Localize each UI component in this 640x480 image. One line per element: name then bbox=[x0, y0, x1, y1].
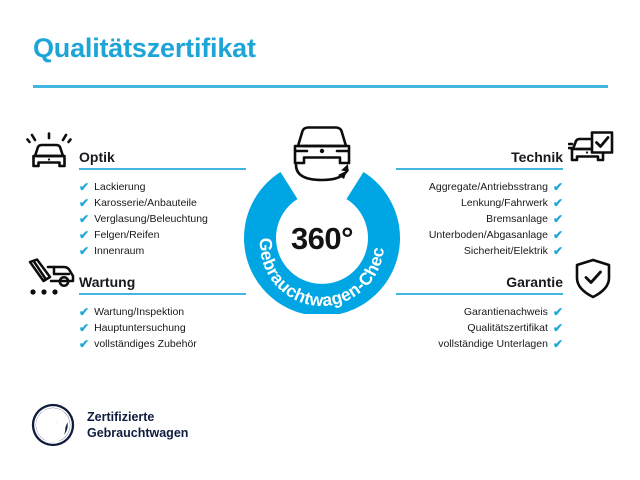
list-item-label: Lackierung bbox=[94, 179, 145, 195]
section-wartung-title: Wartung bbox=[79, 274, 135, 290]
section-technik-header: Technik bbox=[396, 140, 563, 170]
list-item-label: Felgen/Reifen bbox=[94, 227, 159, 243]
list-item: ✔Hauptuntersuchung bbox=[79, 320, 246, 336]
list-item: ✔Wartung/Inspektion bbox=[79, 304, 246, 320]
list-item: Sicherheit/Elektrik✔ bbox=[396, 243, 563, 259]
list-item-label: Bremsanlage bbox=[486, 211, 548, 227]
car-shine-icon bbox=[26, 132, 72, 179]
section-garantie: Garantie Garantienachweis✔ Qualitätszert… bbox=[396, 265, 563, 352]
footer-brand-text: Zertifizierte Gebrauchtwagen bbox=[87, 409, 188, 441]
footer-line-1: Zertifizierte bbox=[87, 409, 188, 425]
list-item-label: Karosserie/Anbauteile bbox=[94, 195, 197, 211]
section-technik-title: Technik bbox=[511, 149, 563, 165]
check-icon: ✔ bbox=[79, 243, 89, 259]
list-item-label: Verglasung/Beleuchtung bbox=[94, 211, 208, 227]
list-item-label: Wartung/Inspektion bbox=[94, 304, 184, 320]
check-icon: ✔ bbox=[553, 179, 563, 195]
section-technik-divider bbox=[396, 168, 563, 170]
check-icon: ✔ bbox=[553, 320, 563, 336]
list-item: ✔Lackierung bbox=[79, 179, 246, 195]
list-item: Lenkung/Fahrwerk✔ bbox=[396, 195, 563, 211]
list-item-label: vollständiges Zubehör bbox=[94, 336, 197, 352]
section-garantie-header: Garantie bbox=[396, 265, 563, 295]
check-icon: ✔ bbox=[79, 195, 89, 211]
list-item-label: Aggregate/Antriebsstrang bbox=[429, 179, 548, 195]
section-wartung-header: Wartung bbox=[79, 265, 246, 295]
list-item-label: Lenkung/Fahrwerk bbox=[461, 195, 548, 211]
check-icon: ✔ bbox=[553, 227, 563, 243]
footer-line-2: Gebrauchtwagen bbox=[87, 425, 188, 441]
section-optik-divider bbox=[79, 168, 246, 170]
check-icon: ✔ bbox=[79, 211, 89, 227]
list-item: Unterboden/Abgasanlage✔ bbox=[396, 227, 563, 243]
section-technik: Technik Aggregate/Antriebsstrang✔ Lenkun… bbox=[396, 140, 563, 259]
list-item: vollständige Unterlagen✔ bbox=[396, 336, 563, 352]
section-optik-list: ✔Lackierung ✔Karosserie/Anbauteile ✔Verg… bbox=[79, 179, 246, 259]
check-icon: ✔ bbox=[553, 304, 563, 320]
section-wartung-list: ✔Wartung/Inspektion ✔Hauptuntersuchung ✔… bbox=[79, 304, 246, 352]
page-title: Qualitätszertifikat bbox=[33, 33, 256, 64]
check-icon: ✔ bbox=[79, 227, 89, 243]
list-item: ✔vollständiges Zubehör bbox=[79, 336, 246, 352]
shield-check-icon bbox=[574, 258, 612, 305]
check-icon: ✔ bbox=[79, 320, 89, 336]
section-technik-list: Aggregate/Antriebsstrang✔ Lenkung/Fahrwe… bbox=[396, 179, 563, 259]
certificate-page: Qualitätszertifikat bbox=[0, 0, 640, 480]
list-item: Aggregate/Antriebsstrang✔ bbox=[396, 179, 563, 195]
section-optik-header: Optik bbox=[79, 140, 246, 170]
section-wartung-divider bbox=[79, 293, 246, 295]
list-item-label: Garantienachweis bbox=[464, 304, 548, 320]
list-item: ✔Felgen/Reifen bbox=[79, 227, 246, 243]
check-icon: ✔ bbox=[79, 304, 89, 320]
badge-center-label: 360° bbox=[234, 221, 410, 257]
list-item: Garantienachweis✔ bbox=[396, 304, 563, 320]
check-icon: ✔ bbox=[79, 336, 89, 352]
badge-360-gebrauchtwagen-check: Gebrauchtwagen-Check 360° bbox=[234, 118, 410, 314]
section-optik-title: Optik bbox=[79, 149, 115, 165]
list-item-label: Unterboden/Abgasanlage bbox=[429, 227, 548, 243]
list-item: ✔Verglasung/Beleuchtung bbox=[79, 211, 246, 227]
car-checkbox-icon bbox=[568, 131, 614, 178]
footer-brand: Zertifizierte Gebrauchtwagen bbox=[30, 402, 188, 448]
list-item: ✔Innenraum bbox=[79, 243, 246, 259]
list-item-label: Sicherheit/Elektrik bbox=[464, 243, 548, 259]
car-rotation-360-icon bbox=[280, 118, 364, 190]
check-icon: ✔ bbox=[553, 336, 563, 352]
list-item: Bremsanlage✔ bbox=[396, 211, 563, 227]
section-garantie-list: Garantienachweis✔ Qualitätszertifikat✔ v… bbox=[396, 304, 563, 352]
section-optik: Optik ✔Lackierung ✔Karosserie/Anbauteile… bbox=[79, 140, 246, 259]
check-icon: ✔ bbox=[553, 243, 563, 259]
service-book-car-icon bbox=[26, 258, 76, 303]
list-item: ✔Karosserie/Anbauteile bbox=[79, 195, 246, 211]
list-item-label: Hauptuntersuchung bbox=[94, 320, 186, 336]
list-item-label: Innenraum bbox=[94, 243, 144, 259]
section-wartung: Wartung ✔Wartung/Inspektion ✔Hauptunters… bbox=[79, 265, 246, 352]
list-item-label: Qualitätszertifikat bbox=[467, 320, 548, 336]
check-icon: ✔ bbox=[79, 179, 89, 195]
volkswagen-logo bbox=[30, 402, 76, 448]
check-icon: ✔ bbox=[553, 211, 563, 227]
list-item: Qualitätszertifikat✔ bbox=[396, 320, 563, 336]
check-icon: ✔ bbox=[553, 195, 563, 211]
list-item-label: vollständige Unterlagen bbox=[438, 336, 548, 352]
section-garantie-title: Garantie bbox=[506, 274, 563, 290]
section-garantie-divider bbox=[396, 293, 563, 295]
title-divider bbox=[33, 85, 608, 88]
